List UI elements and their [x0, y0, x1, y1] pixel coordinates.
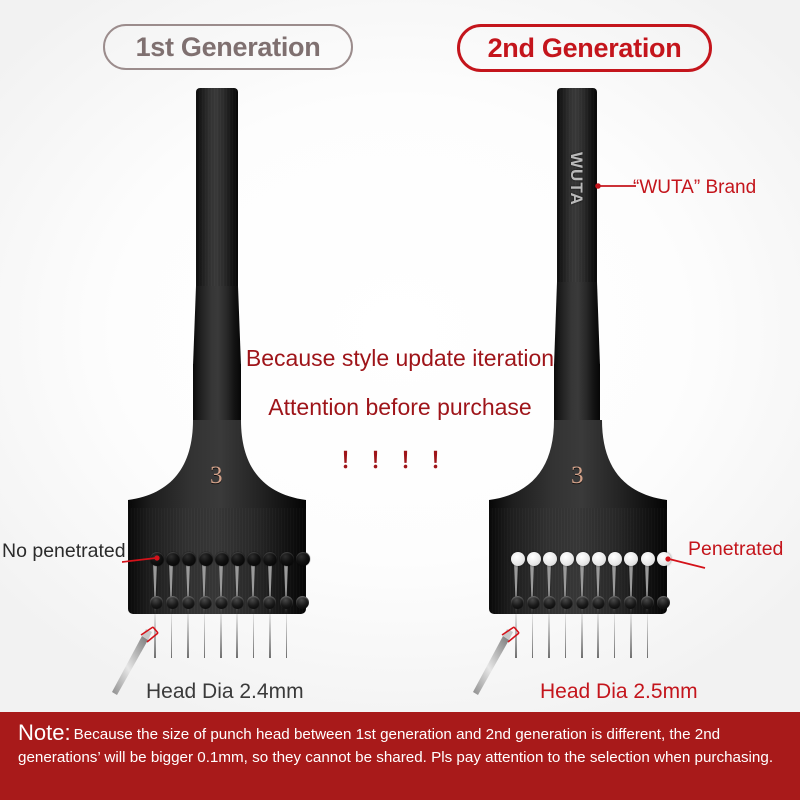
prong [547, 614, 551, 632]
hole-penetrated [543, 552, 557, 566]
hole-row-top-left [150, 552, 312, 566]
prong [612, 614, 616, 632]
hole-unpenetrated [263, 552, 277, 566]
callout-wuta-brand: “WUTA” Brand [633, 177, 756, 199]
notice-exclamation-marks: ！！！！ [0, 443, 800, 475]
hole-penetrated [624, 552, 638, 566]
hole-penetrated [527, 552, 541, 566]
needle-socket [182, 596, 195, 609]
generation-2-label: 2nd Generation [488, 33, 682, 64]
prong [251, 614, 255, 632]
leader-line-no-penetrated [122, 552, 162, 568]
hole-unpenetrated [199, 552, 213, 566]
hole-penetrated [560, 552, 574, 566]
hole-penetrated [592, 552, 606, 566]
needle-socket [657, 596, 670, 609]
hole-row-top-right [511, 552, 673, 566]
needle-socket [641, 596, 654, 609]
prong [580, 614, 584, 632]
hole-penetrated [511, 552, 525, 566]
needle-socket [560, 596, 573, 609]
needle-socket [527, 596, 540, 609]
callout-no-penetrated: No penetrated [2, 540, 126, 563]
hole-unpenetrated [247, 552, 261, 566]
leader-line-penetrated [661, 552, 707, 574]
prong [596, 614, 600, 632]
prong [219, 614, 223, 632]
prong [284, 614, 288, 632]
generation-2-badge: 2nd Generation [457, 24, 712, 72]
needle-socket [624, 596, 637, 609]
needle-socket [199, 596, 212, 609]
prong [629, 614, 633, 632]
note-banner-body: Note:Because the size of punch head betw… [18, 721, 786, 769]
note-banner-label: Note: [18, 720, 71, 745]
needle-socket [247, 596, 260, 609]
needle-socket [543, 596, 556, 609]
tool-handle-left [196, 88, 238, 288]
loose-needle-left [108, 622, 172, 701]
prong [645, 614, 649, 632]
needle-socket [592, 596, 605, 609]
socket-row-right [511, 596, 673, 609]
note-banner-text: Because the size of punch head between 1… [18, 726, 773, 766]
prong [202, 614, 206, 632]
needle-socket [150, 596, 163, 609]
hole-penetrated [608, 552, 622, 566]
prong [235, 614, 239, 632]
needle-socket [166, 596, 179, 609]
hole-unpenetrated [182, 552, 196, 566]
prong [186, 614, 190, 632]
needle-socket [296, 596, 309, 609]
socket-row-left [150, 596, 312, 609]
hole-unpenetrated [280, 552, 294, 566]
generation-1-label: 1st Generation [136, 32, 321, 63]
needle-socket [280, 596, 293, 609]
wuta-brand-engraving: WUTA [566, 152, 586, 206]
notice-line-1: Because style update iteration [0, 345, 800, 372]
leader-line-wuta-brand [594, 178, 638, 194]
needle-socket [511, 596, 524, 609]
loose-needle-right [469, 622, 533, 701]
needle-socket [608, 596, 621, 609]
hole-unpenetrated [231, 552, 245, 566]
needle-socket [263, 596, 276, 609]
prong-array-right [514, 614, 662, 632]
head-diameter-label-right: Head Dia 2.5mm [540, 680, 698, 704]
needle-socket [576, 596, 589, 609]
hole-unpenetrated [166, 552, 180, 566]
needle-socket [215, 596, 228, 609]
hole-penetrated [641, 552, 655, 566]
prong [563, 614, 567, 632]
hole-unpenetrated [215, 552, 229, 566]
prong [268, 614, 272, 632]
notice-line-2: Attention before purchase [0, 394, 800, 421]
note-banner: Note:Because the size of punch head betw… [0, 712, 800, 800]
prong-array-left [153, 614, 301, 632]
needle-socket [231, 596, 244, 609]
infographic-canvas: 1st Generation 2nd Generation [0, 0, 800, 800]
hole-penetrated [576, 552, 590, 566]
hole-unpenetrated [296, 552, 310, 566]
generation-1-badge: 1st Generation [103, 24, 353, 70]
